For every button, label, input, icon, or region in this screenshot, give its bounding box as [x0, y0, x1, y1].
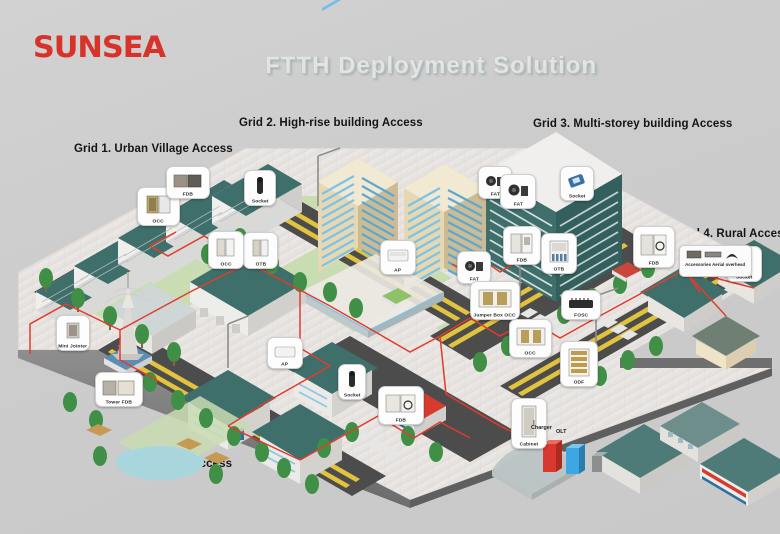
fosc-device-icon: [564, 294, 598, 313]
callout-label: Mini Jointer: [59, 345, 88, 350]
fdb-device-icon: [636, 230, 672, 261]
ap-device-icon: [270, 341, 300, 362]
sunsea-logo: SUNSEA: [33, 30, 165, 64]
accessories-icons: [686, 248, 746, 261]
callout-label: FAT: [513, 203, 522, 208]
callout-label: Jumper Box OCC: [474, 314, 516, 319]
callout-socket-villa[interactable]: Socket: [338, 364, 366, 400]
callout-otb-village[interactable]: OTB: [243, 232, 278, 269]
callout-label: ODF: [574, 381, 585, 386]
fdb-device-icon: [169, 170, 207, 192]
callout-label: FDB: [649, 262, 659, 267]
callout-socket-village[interactable]: Socket: [244, 170, 276, 206]
callout-ap-highrise[interactable]: AP: [380, 240, 416, 275]
callout-fdb-highrise[interactable]: FDB: [503, 226, 541, 265]
callout-fat-multi[interactable]: FAT: [500, 174, 536, 209]
callout-mini-jointer[interactable]: Mini Jointer: [56, 315, 90, 351]
riser-occ-icon: [473, 285, 517, 313]
callout-riser-occ[interactable]: Jumper Box OCC: [470, 281, 520, 320]
callout-label: FOSC: [574, 314, 588, 319]
tower-fdb-icon: [98, 376, 140, 400]
callout-socket-multi[interactable]: Socket: [560, 166, 594, 201]
callout-label: FDB: [517, 259, 527, 264]
callout-occ-street[interactable]: OCC: [208, 231, 244, 269]
isometric-city-scene: [0, 96, 780, 508]
callout-label: OCC: [525, 352, 536, 357]
callout-label: Cabinet: [520, 443, 539, 448]
callout-label: Socket: [252, 200, 269, 205]
page-title-reflection: FTTH Deployment Solution: [265, 62, 597, 76]
callout-ap-villa[interactable]: AP: [267, 337, 303, 369]
ap-device-icon: [383, 244, 413, 268]
callout-label: AP: [394, 269, 401, 274]
callout-otb-highrise[interactable]: OTB: [541, 233, 577, 274]
callout-fosc[interactable]: FOSC: [561, 290, 601, 320]
socket-device-icon: [341, 368, 363, 393]
callout-label: Socket: [344, 394, 361, 399]
odf-device-icon: [563, 345, 595, 380]
socket-device-icon: [563, 170, 591, 194]
callout-label: Socket: [736, 276, 753, 281]
accessories-label: Accessories Aerial overhead: [685, 262, 745, 267]
callout-label: Socket: [569, 195, 586, 200]
callout-label: OCC: [153, 220, 164, 225]
occ-street-icon: [211, 235, 241, 262]
callout-label: OTB: [255, 263, 266, 268]
callout-tower-fdb[interactable]: Tower FDB: [95, 372, 143, 407]
fat-device-icon: [460, 255, 488, 277]
otb-device-icon: [544, 237, 574, 267]
otb-device-icon: [246, 236, 275, 262]
callout-fdb-rural[interactable]: FDB: [633, 226, 675, 268]
callout-label: FAT: [490, 193, 499, 198]
fat-device-icon: [503, 178, 533, 202]
callout-occ-road[interactable]: OCC: [509, 319, 552, 358]
callout-label: Tower FDB: [106, 401, 132, 406]
callout-label: OCC: [220, 263, 231, 268]
socket-device-icon: [247, 174, 273, 199]
cabinet-device-icon: [514, 402, 544, 442]
callout-label: FDB: [396, 419, 406, 424]
mini-jointer-icon: [59, 319, 87, 344]
callout-odf[interactable]: ODF: [560, 341, 598, 387]
occ-device-icon: [512, 323, 549, 351]
charger-rack-label: Charger: [531, 424, 552, 431]
callout-label: AP: [281, 363, 288, 368]
callout-fat-left[interactable]: FAT: [457, 251, 491, 284]
fdb-device-icon: [506, 230, 538, 258]
poster-canvas: SUNSEA FTTH Deployment Solution FTTH Dep…: [0, 0, 780, 534]
accessories-legend: Accessories Aerial overhead: [679, 245, 752, 277]
callout-fdb-villa[interactable]: FDB: [378, 386, 424, 425]
callout-fdb-village[interactable]: FDB: [166, 166, 210, 199]
fdb-device-icon: [381, 390, 421, 418]
callout-label: FDB: [183, 193, 193, 198]
callout-label: OTB: [554, 268, 565, 273]
olt-rack-label: OLT: [556, 428, 566, 435]
